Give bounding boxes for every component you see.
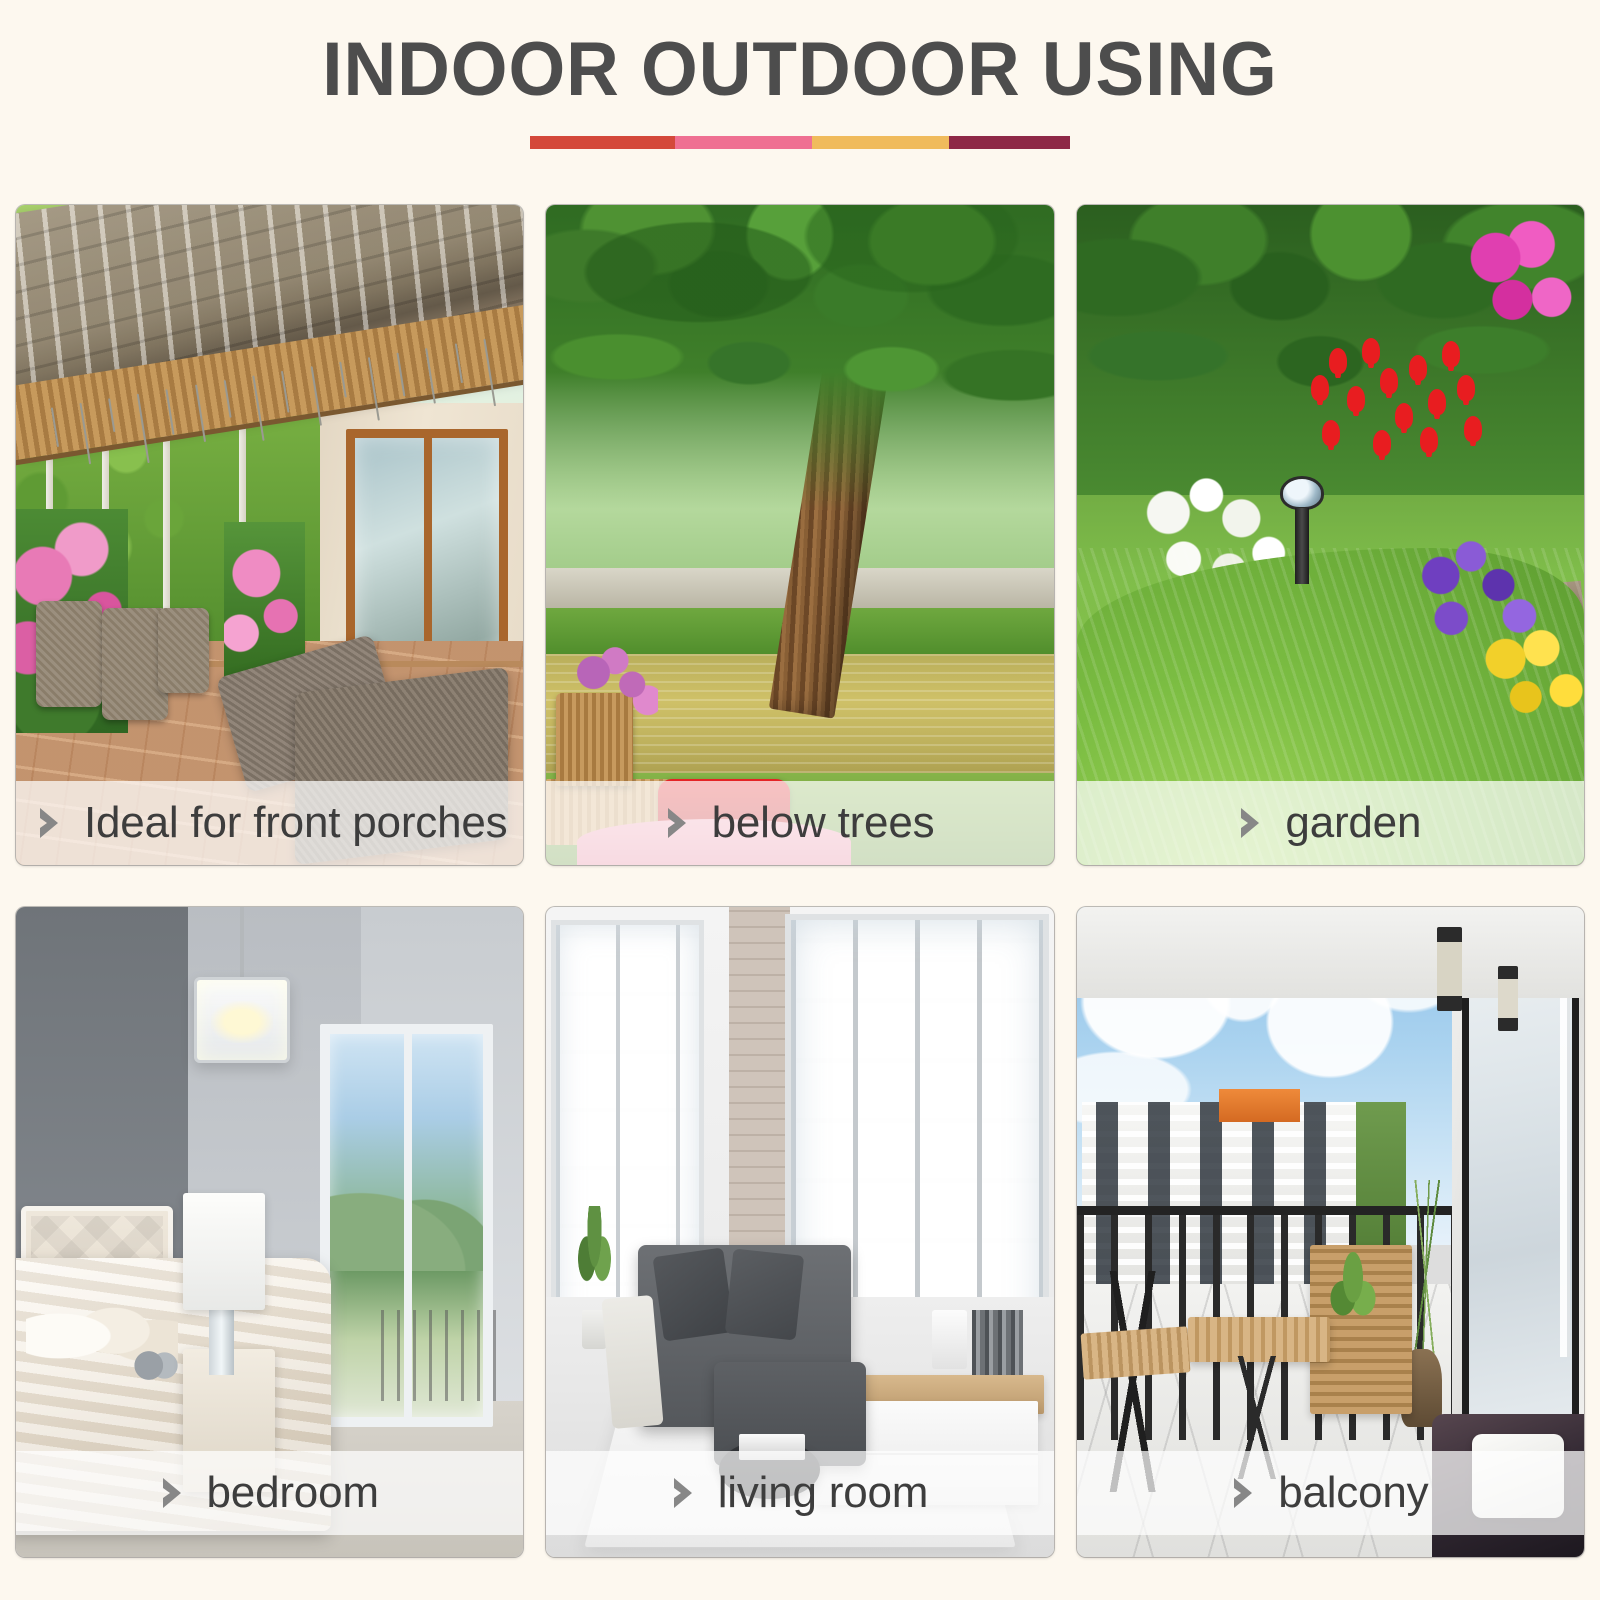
accent-segment-red (530, 136, 675, 149)
scenario-card-bedroom[interactable]: bedroom (16, 907, 523, 1557)
chevron-right-icon (1239, 806, 1269, 840)
caption-below-trees: below trees (546, 781, 1053, 865)
lantern-icon (1498, 966, 1518, 1031)
page-title: INDOOR OUTDOOR USING (32, 30, 1568, 110)
scene-front-porches (16, 205, 523, 865)
chevron-right-icon (161, 1476, 191, 1510)
scenario-card-below-trees[interactable]: below trees (546, 205, 1053, 865)
caption-garden: garden (1077, 781, 1584, 865)
scene-garden (1077, 205, 1584, 865)
usage-scenario-grid: Ideal for front porches (16, 205, 1584, 1557)
caption-label: bedroom (207, 1468, 379, 1518)
caption-living-room: living room (546, 1451, 1053, 1535)
caption-bedroom: bedroom (16, 1451, 523, 1535)
accent-segment-pink (675, 136, 812, 149)
chevron-right-icon (666, 806, 696, 840)
tulip-cluster (1300, 324, 1483, 496)
solar-garden-lamp (1280, 476, 1324, 584)
caption-balcony: balcony (1077, 1451, 1584, 1535)
caption-label: below trees (712, 798, 935, 848)
caption-label: living room (718, 1468, 929, 1518)
accent-bar (530, 136, 1070, 149)
accent-segment-maroon (949, 136, 1070, 149)
pendant-light (194, 907, 290, 1102)
scenario-card-living-room[interactable]: living room (546, 907, 1053, 1557)
accent-segment-gold (812, 136, 949, 149)
scenario-card-garden[interactable]: garden (1077, 205, 1584, 865)
caption-label: balcony (1278, 1468, 1428, 1518)
caption-label: Ideal for front porches (84, 798, 507, 848)
scenario-card-balcony[interactable]: balcony (1077, 907, 1584, 1557)
lantern-icon (1437, 927, 1462, 1012)
caption-label: garden (1285, 798, 1421, 848)
scenario-card-front-porches[interactable]: Ideal for front porches (16, 205, 523, 865)
chevron-right-icon (1232, 1476, 1262, 1510)
infographic-page: INDOOR OUTDOOR USING (0, 0, 1600, 1600)
page-header: INDOOR OUTDOOR USING (0, 0, 1600, 149)
scene-below-trees (546, 205, 1053, 865)
chevron-right-icon (38, 806, 68, 840)
chevron-right-icon (672, 1476, 702, 1510)
caption-front-porches: Ideal for front porches (16, 781, 523, 865)
